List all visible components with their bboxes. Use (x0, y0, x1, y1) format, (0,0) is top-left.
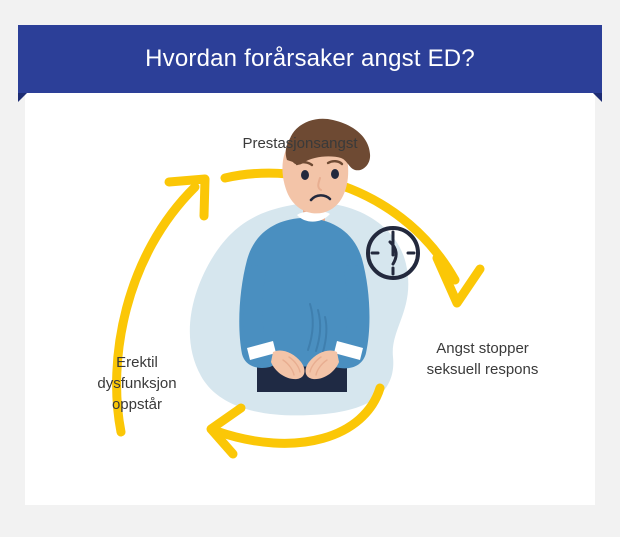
worried-man-illustration (239, 119, 370, 392)
man-eye-right (331, 169, 339, 179)
cycle-diagram (25, 60, 595, 505)
step-label-performance-anxiety: Prestasjonsangst (175, 133, 425, 154)
infographic-root: Hvordan forårsaker angst ED? (0, 0, 620, 537)
step-label-anxiety-stops-response: Angst stopper seksuell respons (395, 338, 570, 380)
ribbon-fold-right (593, 93, 602, 102)
ribbon-fold-left (18, 93, 27, 102)
clock-icon (368, 228, 418, 278)
step-label-erectile-dysfunction: Erektil dysfunksjon oppstår (62, 352, 212, 415)
page-title: Hvordan forårsaker angst ED? (18, 25, 602, 93)
man-eye-left (301, 170, 309, 180)
title-banner: Hvordan forårsaker angst ED? (18, 25, 602, 93)
